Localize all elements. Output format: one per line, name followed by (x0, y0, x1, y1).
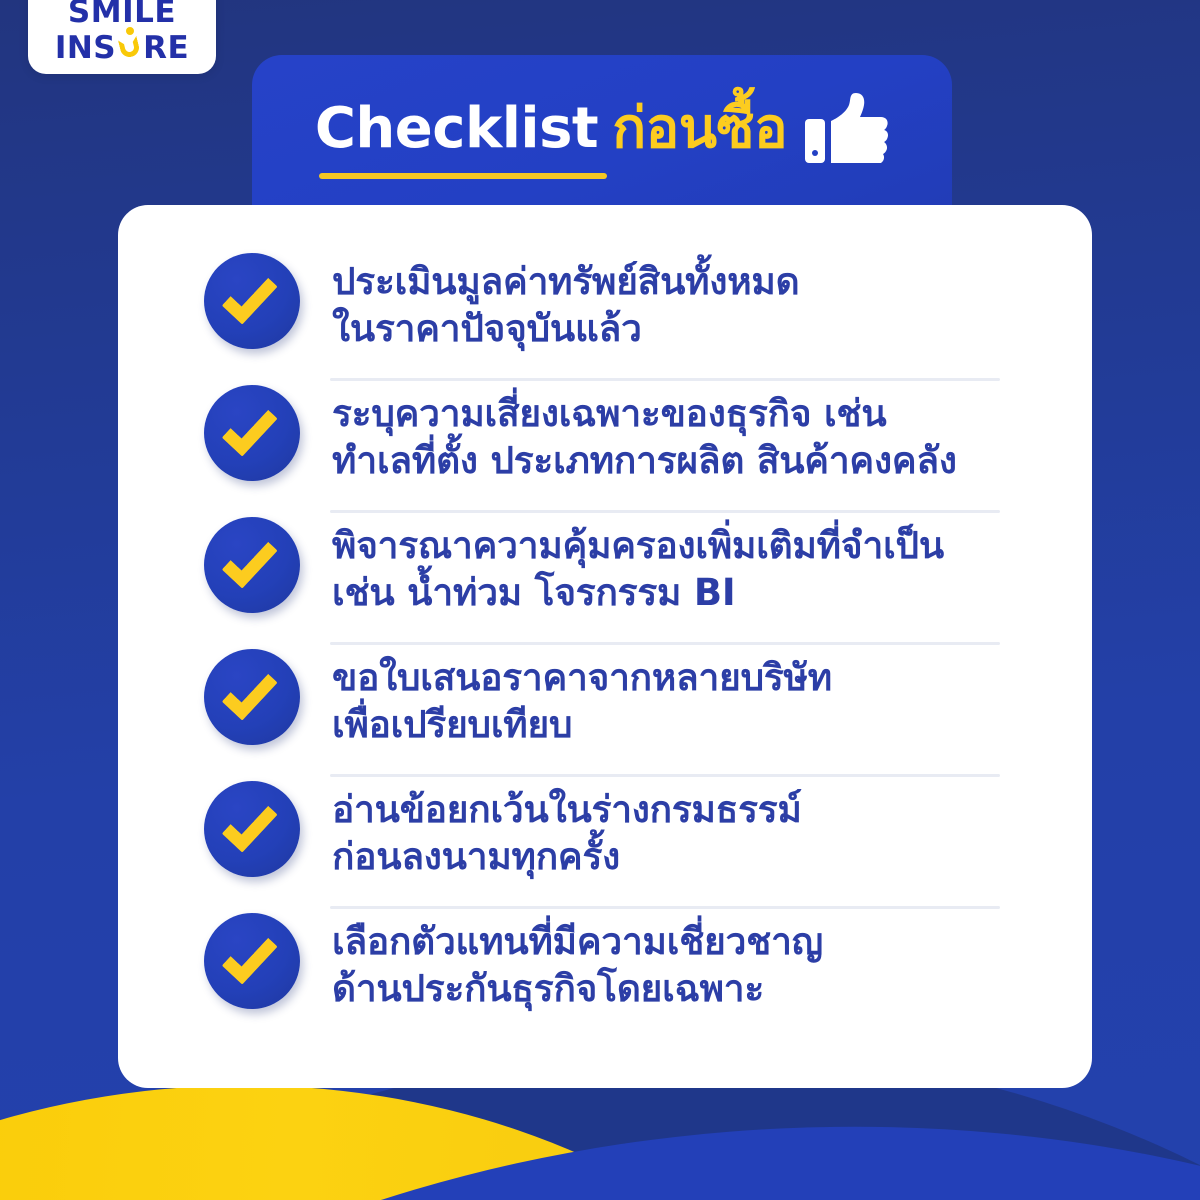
check-circle-icon (204, 909, 300, 1009)
logo-line-smile: SMILE (68, 0, 176, 28)
title-sub-text: ก่อนซื้อ (612, 101, 787, 157)
list-item-label: ขอใบเสนอราคาจากหลายบริษัท เพื่อเปรียบเที… (332, 645, 832, 748)
check-circle-icon (204, 777, 300, 877)
list-item[interactable]: ระบุความเสี่ยงเฉพาะของธุรกิจ เช่น ทำเลที… (118, 381, 1092, 513)
header-banner: Checklist ก่อนซื้อ (252, 55, 952, 227)
smile-curve-icon (118, 36, 141, 59)
header-content: Checklist ก่อนซื้อ (252, 93, 952, 165)
list-item-label: ประเมินมูลค่าทรัพย์สินทั้งหมด ในราคาปัจจ… (332, 249, 799, 352)
list-item[interactable]: ประเมินมูลค่าทรัพย์สินทั้งหมด ในราคาปัจจ… (118, 249, 1092, 381)
list-item[interactable]: ขอใบเสนอราคาจากหลายบริษัท เพื่อเปรียบเที… (118, 645, 1092, 777)
logo-line-insure: INS RE (55, 28, 189, 65)
brand-logo: SMILE INS RE (28, 0, 216, 74)
list-item-label: อ่านข้อยกเว้นในร่างกรมธรรม์ ก่อนลงนามทุก… (332, 777, 802, 880)
list-item[interactable]: พิจารณาความคุ้มครองเพิ่มเติมที่จำเป็น เช… (118, 513, 1092, 645)
logo-insure-suffix: RE (143, 33, 189, 65)
title-line: Checklist ก่อนซื้อ (315, 101, 787, 157)
poster-canvas: SMILE INS RE Checklist ก่อนซื้อ (0, 0, 1200, 1200)
smile-dot-icon (126, 27, 134, 35)
list-item-label: ระบุความเสี่ยงเฉพาะของธุรกิจ เช่น ทำเลที… (332, 381, 957, 484)
list-item-label: พิจารณาความคุ้มครองเพิ่มเติมที่จำเป็น เช… (332, 513, 944, 616)
list-item[interactable]: เลือกตัวแทนที่มีความเชี่ยวชาญ ด้านประกัน… (118, 909, 1092, 1041)
logo-insure-prefix: INS (55, 33, 116, 65)
smile-u-icon (117, 28, 142, 58)
check-circle-icon (204, 381, 300, 481)
thumbs-up-icon (803, 93, 889, 165)
page-title: Checklist ก่อนซื้อ (315, 101, 787, 157)
title-main-text: Checklist (315, 101, 598, 157)
title-underline-decoration (319, 173, 607, 179)
checklist: ประเมินมูลค่าทรัพย์สินทั้งหมด ในราคาปัจจ… (118, 249, 1092, 1041)
check-circle-icon (204, 645, 300, 745)
check-circle-icon (204, 249, 300, 349)
list-item-label: เลือกตัวแทนที่มีความเชี่ยวชาญ ด้านประกัน… (332, 909, 823, 1012)
blue-arc-decoration (0, 1078, 1200, 1200)
checklist-card: ประเมินมูลค่าทรัพย์สินทั้งหมด ในราคาปัจจ… (118, 205, 1092, 1088)
check-circle-icon (204, 513, 300, 613)
list-item[interactable]: อ่านข้อยกเว้นในร่างกรมธรรม์ ก่อนลงนามทุก… (118, 777, 1092, 909)
